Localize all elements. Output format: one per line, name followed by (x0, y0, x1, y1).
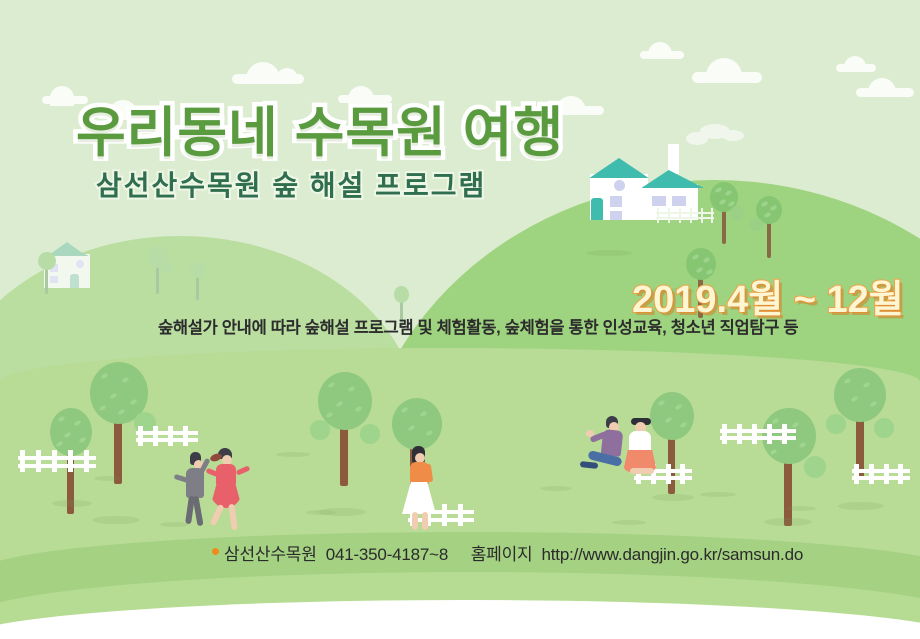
tree-shade-5 (652, 494, 694, 501)
orange-dot-icon (212, 548, 219, 555)
tree-shade-2 (92, 516, 140, 524)
ground-shade-b (276, 452, 310, 457)
hill-ground-shade-1 (586, 250, 632, 256)
footer-homepage-url[interactable]: http://www.dangjin.go.kr/samsun.do (542, 545, 804, 564)
tree-shade-6 (764, 518, 812, 526)
ground-shade-f (786, 506, 816, 511)
ground-shade-h (612, 520, 646, 525)
poster-canvas: 우리동네 수목원 여행 삼선산수목원 숲 해설 프로그램 2019.4월 ~ 1… (0, 0, 920, 639)
ground-shade-g (160, 522, 188, 527)
poster-title: 우리동네 수목원 여행 (76, 88, 564, 167)
ground-shade-c (306, 510, 336, 515)
poster-description: 숲해설가 안내에 따라 숲해설 프로그램 및 체험활동, 숲체험을 통한 인성교… (158, 314, 798, 338)
footer-organization: 삼선산수목원 (224, 545, 317, 564)
poster-subtitle: 삼선산수목원 숲 해설 프로그램 (96, 164, 486, 204)
poster-footer: 삼선산수목원 041-350-4187~8 홈페이지 http://www.da… (224, 540, 803, 565)
tree-shade-1 (52, 500, 92, 507)
ground-shade-e (700, 492, 736, 497)
chimney-smoke-3 (722, 130, 744, 141)
footer-phone: 041-350-4187~8 (326, 545, 448, 564)
footer-homepage-label: 홈페이지 (471, 545, 533, 564)
ground-shade-d (540, 486, 572, 491)
ground-shade-a (94, 476, 120, 481)
tree-shade-7 (838, 502, 884, 510)
